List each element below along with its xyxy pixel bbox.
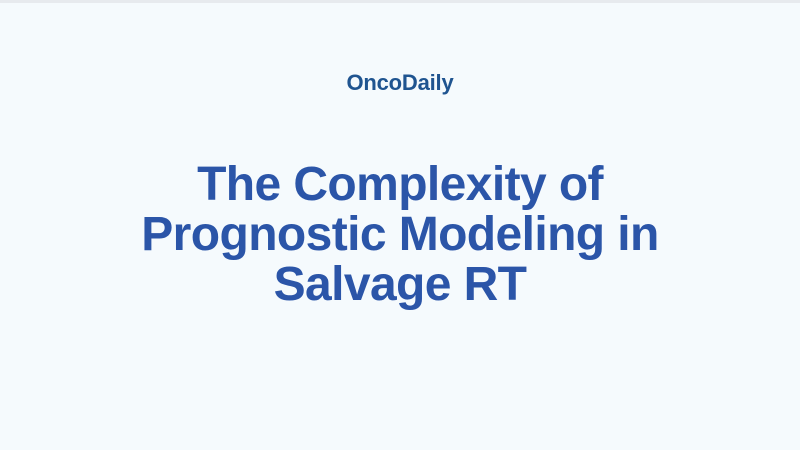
title-line-3: Salvage RT <box>90 260 710 310</box>
slide-content: OncoDaily The Complexity of Prognostic M… <box>0 0 800 450</box>
title-line-1: The Complexity of <box>90 160 710 210</box>
page-title: The Complexity of Prognostic Modeling in… <box>90 160 710 310</box>
brand-logo-text: OncoDaily <box>346 70 453 96</box>
title-slide: OncoDaily The Complexity of Prognostic M… <box>0 0 800 450</box>
title-line-2: Prognostic Modeling in <box>90 210 710 260</box>
